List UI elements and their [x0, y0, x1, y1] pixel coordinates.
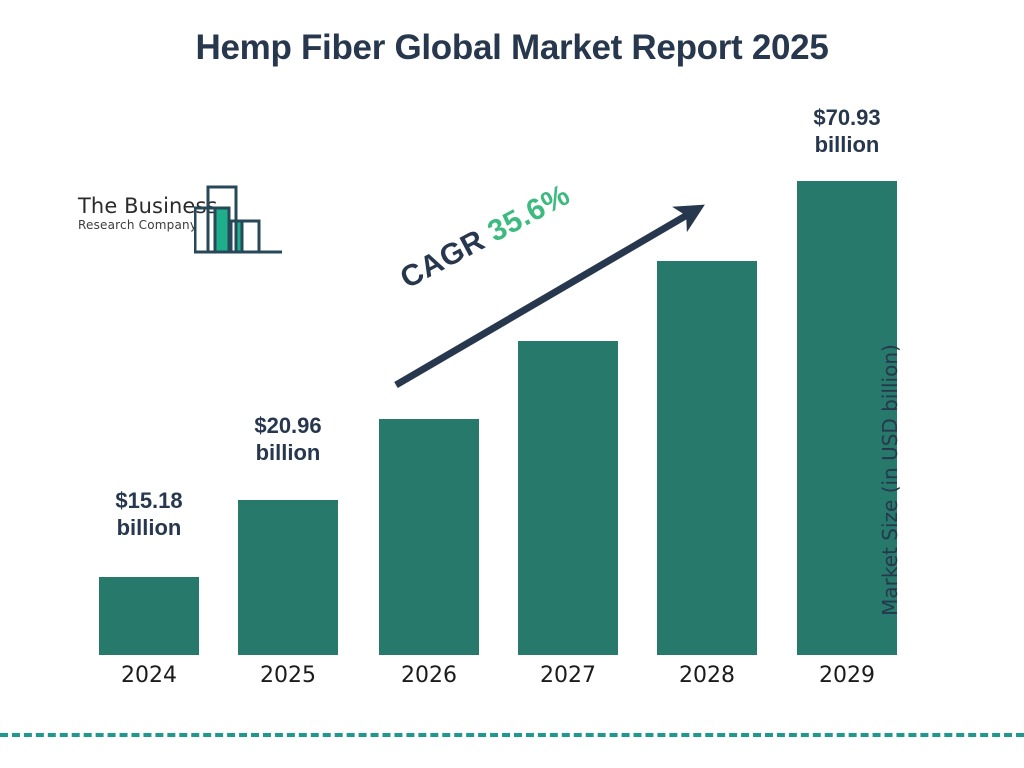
bar-value-2025: $20.96 billion — [213, 412, 363, 466]
chart-canvas: Hemp Fiber Global Market Report 2025 The… — [0, 0, 1024, 768]
bar-value-2029-line2: billion — [772, 131, 922, 158]
x-tick-2025: 2025 — [238, 663, 338, 689]
x-tick-2027: 2027 — [518, 663, 618, 689]
bar-value-2025-line1: $20.96 — [213, 412, 363, 439]
footer-divider — [0, 733, 1024, 737]
bar-2024[interactable] — [99, 577, 199, 655]
bar-2026[interactable] — [379, 419, 479, 655]
bar-chart-plot-area: $15.18 billion $20.96 billion $70.93 bil… — [0, 0, 1024, 768]
bar-value-2024: $15.18 billion — [74, 487, 224, 541]
bar-2025[interactable] — [238, 500, 338, 655]
x-tick-2029: 2029 — [797, 663, 897, 689]
x-tick-2028: 2028 — [657, 663, 757, 689]
bar-value-2024-line2: billion — [74, 514, 224, 541]
bar-2028[interactable] — [657, 261, 757, 655]
x-tick-2026: 2026 — [379, 663, 479, 689]
bar-value-2029: $70.93 billion — [772, 104, 922, 158]
y-axis-title: Market Size (in USD billion) — [878, 310, 902, 650]
bar-value-2029-line1: $70.93 — [772, 104, 922, 131]
x-tick-2024: 2024 — [99, 663, 199, 689]
bar-value-2025-line2: billion — [213, 439, 363, 466]
bar-value-2024-line1: $15.18 — [74, 487, 224, 514]
bar-2027[interactable] — [518, 341, 618, 655]
